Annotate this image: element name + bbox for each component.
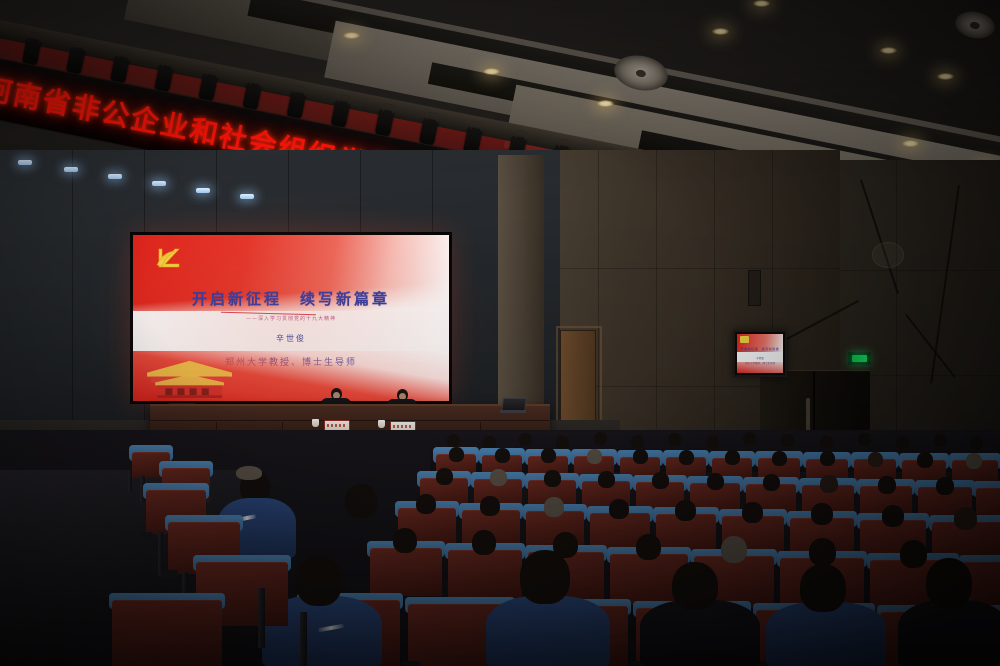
- teacup: [312, 419, 319, 427]
- backdrop-spot-light: [18, 160, 32, 165]
- backdrop-spot-light: [108, 174, 122, 179]
- ceiling-downlight: [902, 140, 919, 147]
- audience-head: [917, 452, 933, 468]
- audience-head: [896, 436, 909, 449]
- ceiling-downlight: [880, 47, 897, 54]
- seat-armrest: [402, 661, 420, 666]
- audience-head: [868, 452, 883, 467]
- audience-head: [742, 502, 763, 523]
- audience-head: [447, 434, 460, 447]
- ceiling-downlight: [343, 32, 360, 39]
- backdrop-spot-light: [240, 194, 254, 199]
- presentation-slide: 开启新征程 续写新篇章 ——深入学习贯彻党的十九大精神 辛世俊 郑州大学教授、博…: [133, 235, 449, 401]
- audience-head: [725, 450, 740, 465]
- audience-head: [800, 564, 846, 612]
- seat-leg: [300, 612, 307, 666]
- audience-head: [820, 475, 838, 493]
- tiananmen-gate-icon: [139, 355, 240, 398]
- backdrop-spot-light: [196, 188, 210, 193]
- ceiling-downlight: [937, 73, 954, 80]
- audience-head: [631, 435, 644, 448]
- audience-head: [594, 432, 607, 445]
- audience-head: [707, 473, 724, 490]
- audience-head: [721, 536, 747, 563]
- audience-head: [675, 500, 696, 521]
- audience-head: [495, 448, 510, 463]
- audience-head: [556, 436, 569, 449]
- audience-head: [900, 540, 927, 568]
- wall-monitor-screen: 开启新征程 续写新篇章 辛世俊 郑州大学教授、博士生导师: [737, 334, 783, 373]
- audience-head: [763, 474, 780, 491]
- audience-head: [236, 466, 262, 480]
- audience-head: [480, 496, 500, 516]
- audience-head: [636, 534, 661, 560]
- seat-leg: [128, 470, 132, 492]
- audience-head: [490, 469, 507, 486]
- main-led-screen: 开启新征程 续写新篇章 ——深入学习贯彻党的十九大精神 辛世俊 郑州大学教授、博…: [130, 232, 452, 404]
- audience-head: [926, 558, 972, 608]
- wall-monitor-name: 辛世俊: [737, 356, 783, 360]
- door-handle[interactable]: [806, 398, 810, 432]
- audience-head: [743, 432, 756, 445]
- audience-head: [544, 470, 561, 487]
- wall-monitor-title: 开启新征程 续写新篇章: [737, 347, 783, 351]
- ceiling-downlight: [753, 0, 770, 7]
- presenter-laptop[interactable]: [500, 398, 526, 413]
- audience-head: [809, 538, 836, 566]
- audience-head: [781, 434, 794, 447]
- audience-head: [858, 433, 871, 446]
- audience-head: [706, 436, 719, 449]
- wall-monitor: 开启新征程 续写新篇章 辛世俊 郑州大学教授、博士生导师: [733, 330, 787, 377]
- backdrop-spot-light: [64, 167, 78, 172]
- audience-head: [519, 433, 532, 446]
- seat-back: [448, 550, 522, 599]
- slide-title: 开启新征程 续写新篇章: [133, 288, 449, 309]
- ceiling-downlight: [483, 68, 500, 75]
- audience-head: [882, 505, 904, 527]
- seat[interactable]: [370, 548, 442, 596]
- auditorium-photo: 河南省非公企业和社会组织党的十九大精神宣讲报告会: [0, 0, 1000, 666]
- ceiling-downlight: [712, 28, 729, 35]
- audience-head: [878, 476, 896, 494]
- audience-head: [679, 450, 694, 465]
- slide-speaker-name: 辛世俊: [133, 333, 449, 344]
- backdrop-spot-light: [152, 181, 166, 186]
- audience-person-torso: [486, 596, 610, 666]
- exit-sign-glow: [852, 355, 867, 362]
- exit-sign: [848, 352, 871, 365]
- laptop-base: [500, 410, 526, 413]
- slide-subtitle: ——深入学习贯彻党的十九大精神: [133, 315, 449, 322]
- audience-head: [544, 497, 564, 517]
- audience-head: [772, 451, 787, 466]
- audience-head: [541, 448, 556, 463]
- audience-head: [449, 447, 464, 462]
- seat-back: [370, 548, 442, 596]
- audience-head: [598, 471, 615, 488]
- audience-head: [436, 468, 453, 485]
- audience-person-torso: [898, 600, 1000, 666]
- wall-round-feature: [872, 242, 904, 268]
- seat[interactable]: [448, 550, 522, 599]
- audience-head: [416, 494, 436, 514]
- audience-head: [954, 507, 977, 530]
- audience-head: [633, 449, 648, 464]
- audience-head: [820, 436, 833, 449]
- audience-head: [970, 437, 983, 450]
- audience-head: [672, 562, 718, 610]
- audience-head: [966, 453, 982, 469]
- audience-head: [587, 449, 602, 464]
- audience-head: [393, 528, 417, 553]
- audience-head: [820, 451, 835, 466]
- audience-head: [652, 472, 669, 489]
- audience-head: [811, 503, 833, 525]
- audience-head: [668, 433, 681, 446]
- audience-head: [296, 556, 342, 606]
- stage-door[interactable]: [560, 330, 596, 424]
- wall-panel-recess: [748, 270, 761, 306]
- seat-armrest: [140, 532, 153, 538]
- seat-armrest: [162, 570, 178, 578]
- ceiling-downlight: [597, 100, 614, 107]
- audience-head: [345, 484, 377, 518]
- audience-head: [472, 530, 496, 555]
- seat-back: [112, 600, 222, 666]
- party-emblem-icon: [149, 243, 189, 275]
- teacup: [378, 420, 385, 428]
- audience-head: [934, 434, 947, 447]
- seat-leg: [258, 588, 265, 648]
- audience-head: [936, 477, 954, 495]
- audience-head: [609, 499, 629, 519]
- seat[interactable]: [112, 600, 222, 666]
- audience-head: [520, 550, 570, 604]
